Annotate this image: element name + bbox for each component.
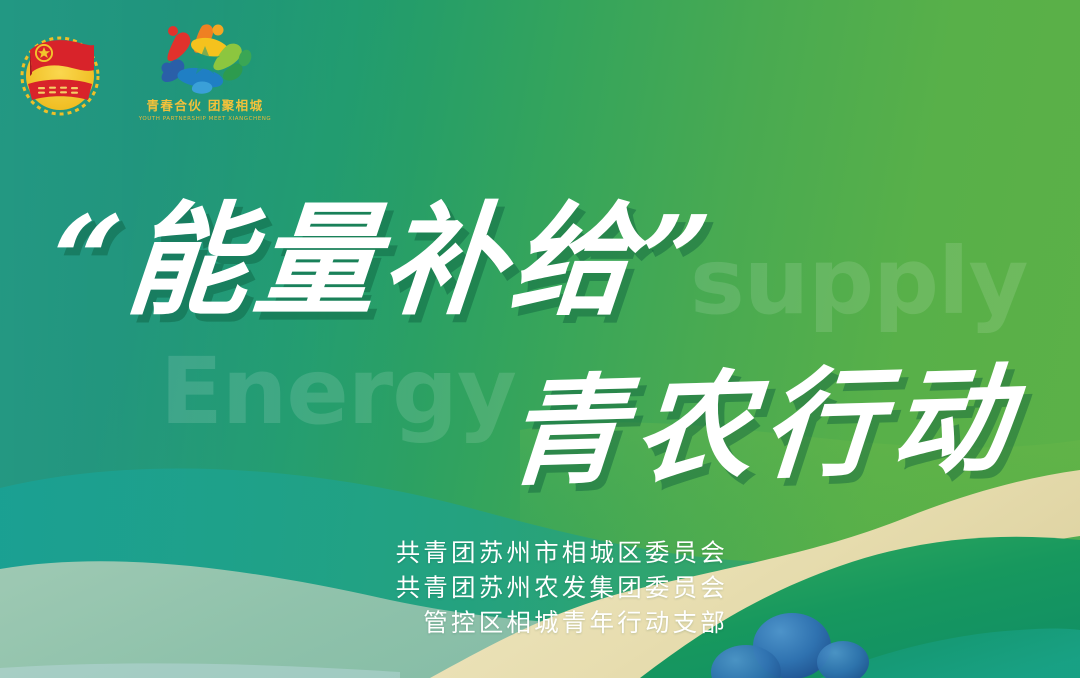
- organisation-block: 共青团苏州市相城区委员会 共青团苏州农发集团委员会 管控区相城青年行动支部: [396, 536, 728, 640]
- organisation-line-1: 共青团苏州市相城区委员会: [396, 536, 728, 571]
- title-line-1: “能量补给”: [44, 162, 724, 339]
- organisation-line-2: 共青团苏州农发集团委员会: [396, 571, 728, 606]
- watermark-energy: Energy: [160, 338, 516, 445]
- poster-canvas: 青春合伙 团聚相城 YOUTH PARTNERSHIP MEET XIANGCH…: [0, 0, 1080, 678]
- title-line-2: 青农行动: [501, 323, 1028, 508]
- watermark-supply: supply: [690, 228, 1027, 335]
- xiangcheng-logo-chinese: 青春合伙 团聚相城: [147, 95, 264, 114]
- cyl-emblem: [14, 18, 106, 118]
- organisation-line-3: 管控区相城青年行动支部: [396, 606, 728, 641]
- logo-row: 青春合伙 团聚相城 YOUTH PARTNERSHIP MEET XIANGCH…: [14, 18, 270, 126]
- star-people-icon: [146, 18, 264, 94]
- xiangcheng-logo-english: YOUTH PARTNERSHIP MEET XIANGCHENG: [139, 116, 272, 122]
- xiangcheng-logo: 青春合伙 团聚相城 YOUTH PARTNERSHIP MEET XIANGCH…: [140, 18, 270, 126]
- cyl-emblem-icon: [14, 18, 106, 118]
